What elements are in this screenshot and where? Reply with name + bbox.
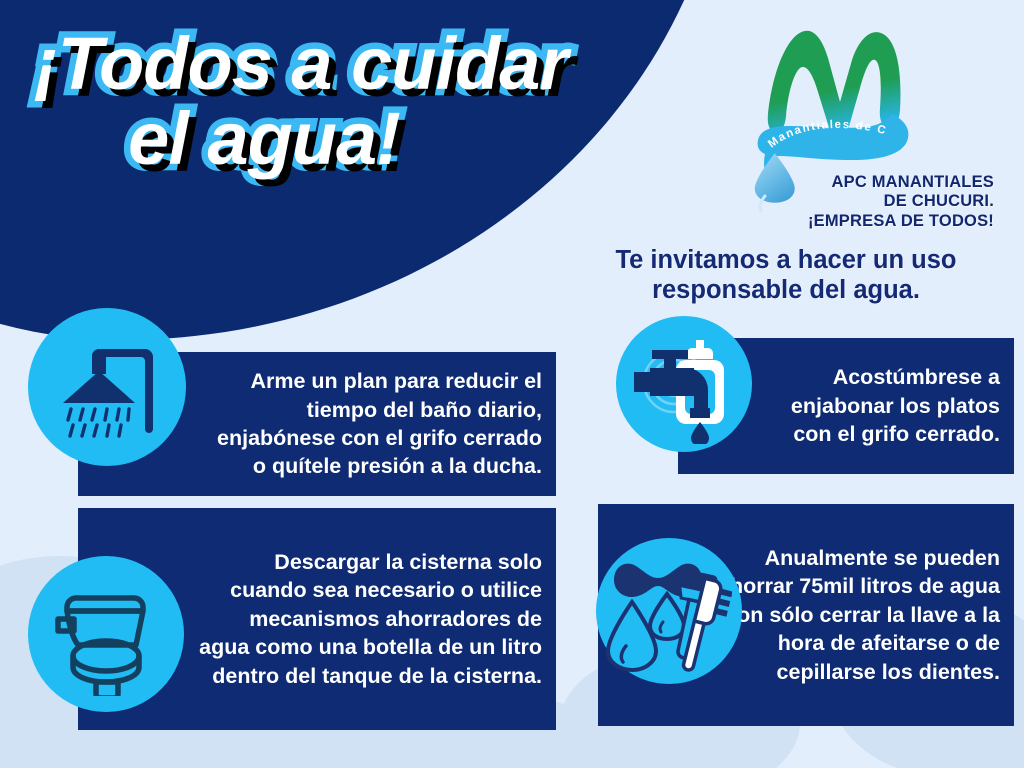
- toilet-icon: [44, 572, 168, 696]
- tip-icon-badge: [616, 316, 752, 452]
- page-title: ¡Todos a cuidar el agua!: [34, 28, 634, 178]
- tip-icon-badge: [28, 308, 186, 466]
- subtitle: Te invitamos a hacer un uso responsable …: [560, 246, 1012, 305]
- poster-canvas: ¡Todos a cuidar el agua!: [0, 0, 1024, 768]
- logo-graphic: Manantiales de Chucuri: [732, 10, 962, 215]
- company-logo: Manantiales de Chucuri APC MANANTIALES D…: [698, 10, 998, 231]
- tip-icon-badge: [596, 538, 742, 684]
- svg-text:Manantiales de Chucuri: Manantiales de Chucuri: [732, 10, 888, 151]
- tip-icon-badge: [28, 556, 184, 712]
- title-line-2: el agua!: [34, 103, 634, 174]
- logo-mark: Manantiales de Chucuri: [732, 10, 962, 215]
- shaving-toothbrush-icon: [606, 548, 732, 674]
- logo-ribbon-text: Manantiales de Chucuri: [732, 10, 888, 151]
- title-line-1: ¡Todos a cuidar: [34, 28, 634, 99]
- shower-icon: [47, 327, 167, 447]
- faucet-soap-icon: [624, 324, 744, 444]
